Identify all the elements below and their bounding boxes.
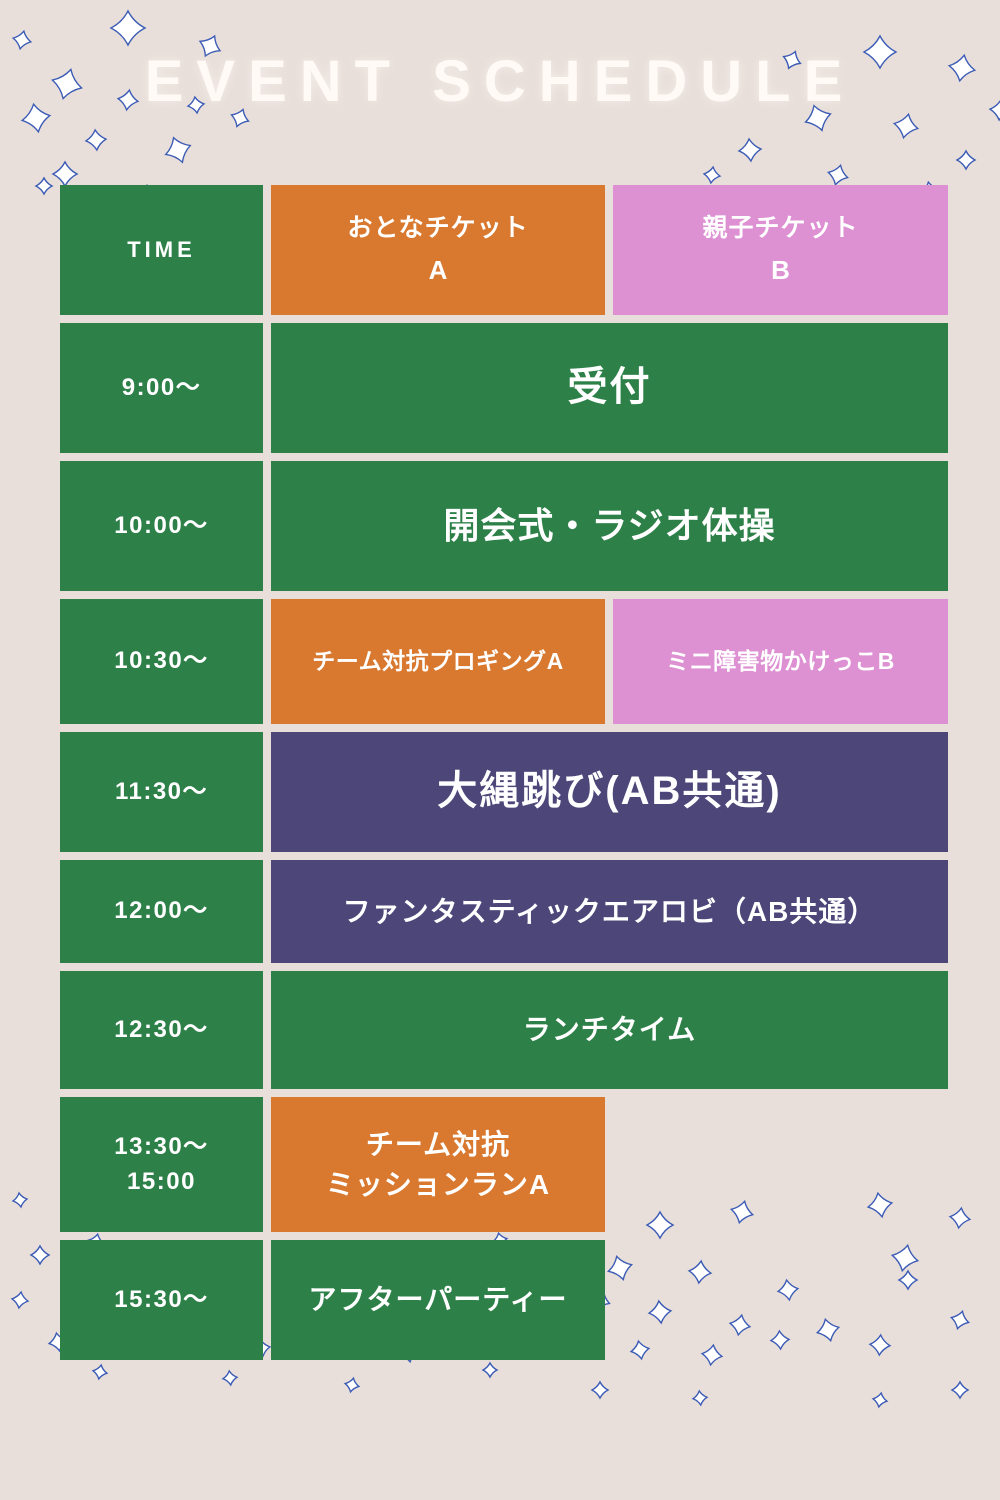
row-time: 11:30〜 <box>60 732 263 852</box>
ticket-b-name: 親子チケット <box>702 212 858 244</box>
row-empty-b <box>613 1097 948 1232</box>
header-time-cell: TIME <box>60 185 263 315</box>
row-activity-a: アフターパーティー <box>271 1240 605 1360</box>
event-schedule-poster: EVENT SCHEDULE TIME おとなチケット A 親子チケット B 9… <box>0 0 1000 1500</box>
header-ticket-a-cell: おとなチケット A <box>271 185 605 315</box>
row-time: 15:30〜 <box>60 1240 263 1360</box>
row-activity-ab: 受付 <box>271 323 948 453</box>
row-activity-a-line1: チーム対抗 <box>366 1127 510 1163</box>
table-header-row: TIME おとなチケット A 親子チケット B <box>60 185 940 315</box>
row-activity-a: チーム対抗プロギングA <box>271 599 605 724</box>
row-time: 9:00〜 <box>60 323 263 453</box>
table-row: 11:30〜 大縄跳び(AB共通) <box>60 732 940 852</box>
page-title: EVENT SCHEDULE <box>0 48 1000 115</box>
table-row: 12:30〜 ランチタイム <box>60 971 940 1089</box>
row-time: 12:30〜 <box>60 971 263 1089</box>
row-activity-ab: 大縄跳び(AB共通) <box>271 732 948 852</box>
row-time: 10:30〜 <box>60 599 263 724</box>
table-row: 12:00〜 ファンタスティックエアロビ（AB共通） <box>60 860 940 963</box>
table-row: 10:00〜 開会式・ラジオ体操 <box>60 461 940 591</box>
table-row: 15:30〜 アフターパーティー <box>60 1240 940 1360</box>
ticket-a-code: A <box>429 254 448 287</box>
row-time-line2: 15:00 <box>127 1167 196 1198</box>
row-time: 10:00〜 <box>60 461 263 591</box>
header-ticket-b-cell: 親子チケット B <box>613 185 948 315</box>
row-activity-ab: 開会式・ラジオ体操 <box>271 461 948 591</box>
row-activity-ab: ランチタイム <box>271 971 948 1089</box>
row-activity-a: チーム対抗 ミッションランA <box>271 1097 605 1232</box>
schedule-table: TIME おとなチケット A 親子チケット B 9:00〜 受付 10:00〜 … <box>60 185 940 1368</box>
row-time-line1: 13:30〜 <box>114 1132 208 1163</box>
row-activity-ab: ファンタスティックエアロビ（AB共通） <box>271 860 948 963</box>
row-activity-a-line2: ミッションランA <box>326 1167 550 1203</box>
row-activity-b: ミニ障害物かけっこB <box>613 599 948 724</box>
row-empty-b <box>613 1240 948 1360</box>
row-time: 12:00〜 <box>60 860 263 963</box>
ticket-b-code: B <box>771 254 790 287</box>
table-row: 9:00〜 受付 <box>60 323 940 453</box>
table-row: 13:30〜 15:00 チーム対抗 ミッションランA <box>60 1097 940 1232</box>
row-time: 13:30〜 15:00 <box>60 1097 263 1232</box>
ticket-a-name: おとなチケット <box>347 212 528 244</box>
table-row: 10:30〜 チーム対抗プロギングA ミニ障害物かけっこB <box>60 599 940 724</box>
